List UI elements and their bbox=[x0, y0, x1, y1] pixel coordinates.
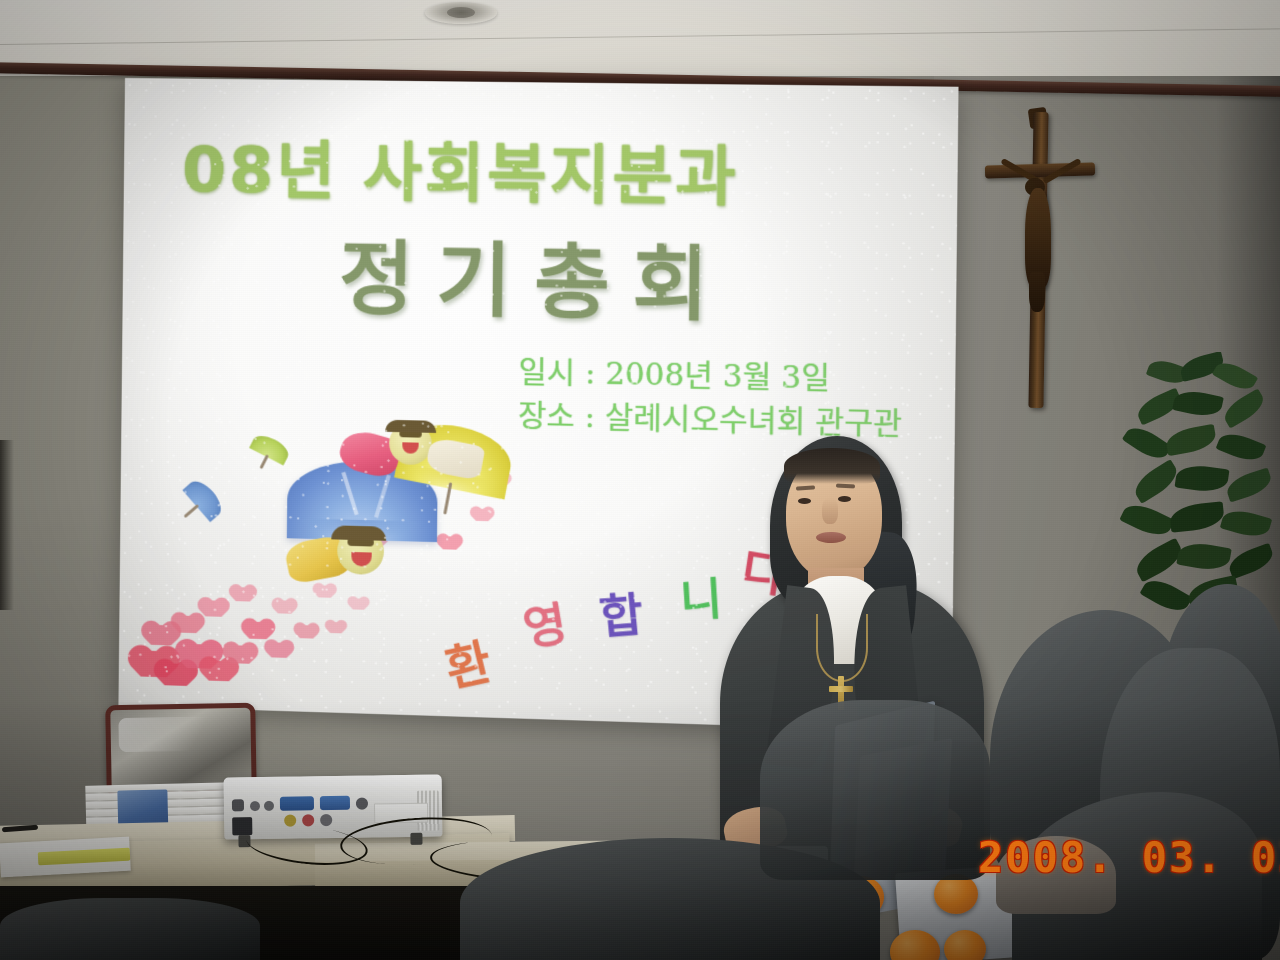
crucifix-figure-legs bbox=[1029, 272, 1045, 312]
ceiling-light-bulb bbox=[447, 7, 475, 18]
speaker-eye-left bbox=[798, 498, 811, 504]
projector-port-vga-2 bbox=[320, 796, 350, 810]
slide-title-line-1: 08년 사회복지분과 bbox=[182, 119, 740, 218]
camera-date-stamp: 2008. 03. 03 bbox=[978, 833, 1280, 882]
slide-meta-date: 일시 : 2008년 3월 3일 bbox=[518, 352, 903, 403]
projector-port-rca-white bbox=[320, 814, 332, 826]
speaker-nose bbox=[822, 498, 838, 524]
slide-meta-block: 일시 : 2008년 3월 3일 장소 : 살레시오수녀회 관구관 bbox=[518, 352, 903, 447]
photograph: 08년 사회복지분과 정기총회 일시 : 2008년 3월 3일 장소 : 살레… bbox=[0, 0, 1280, 960]
projector-port-rca-red bbox=[302, 814, 314, 826]
crucifix bbox=[985, 112, 1095, 408]
welcome-char-3: 합 bbox=[596, 578, 646, 648]
ceiling-seam bbox=[0, 28, 1280, 45]
speaker-eye-right bbox=[838, 496, 851, 502]
orange-3 bbox=[934, 874, 978, 914]
chair-sheen bbox=[118, 716, 229, 752]
projector-top-panel bbox=[224, 774, 442, 793]
foreground-nun-center-right bbox=[760, 700, 990, 880]
orange-4 bbox=[944, 930, 986, 960]
projector-port-power bbox=[232, 799, 244, 811]
slide-title-line-2: 정기총회 bbox=[339, 213, 733, 337]
speaker-hairline bbox=[784, 448, 880, 484]
wall-left-shadow bbox=[0, 440, 14, 610]
ceiling-light-fixture bbox=[425, 2, 497, 24]
projector-port-audio-1 bbox=[250, 801, 260, 811]
speaker-cross-pendant-horizontal bbox=[829, 686, 853, 692]
speaker-mouth bbox=[816, 532, 846, 543]
umbrella-illustration bbox=[138, 408, 546, 711]
speaker-necklace-chain bbox=[816, 614, 868, 682]
foreground-chair-silhouette bbox=[0, 898, 260, 960]
crucifix-horizontal-beam bbox=[985, 162, 1095, 178]
projector-port-video bbox=[356, 798, 368, 810]
heart-cluster bbox=[138, 558, 402, 706]
projector-port-vga-1 bbox=[280, 796, 314, 810]
projector-port-audio-2 bbox=[264, 801, 274, 811]
